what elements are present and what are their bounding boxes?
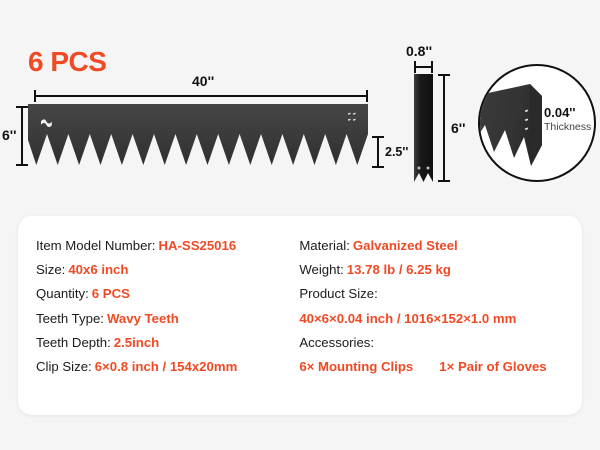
teeth-depth-label: 2.5'' bbox=[385, 146, 408, 159]
spec-key-size: Size: bbox=[36, 262, 65, 277]
spec-row-teeth-depth: Teeth Depth:2.5inch bbox=[36, 335, 299, 350]
spec-row-size: Size:40x6 inch bbox=[36, 262, 299, 277]
thickness-callout: 0.04'' Thickness bbox=[544, 106, 591, 134]
spec-key-weight: Weight: bbox=[299, 262, 343, 277]
spec-row-product-size-value: 40×6×0.04 inch / 1016×152×1.0 mm bbox=[299, 311, 582, 326]
clip-height-label: 6'' bbox=[451, 121, 465, 135]
spec-row-clip-size: Clip Size:6×0.8 inch / 154x20mm bbox=[36, 359, 299, 374]
spec-value-teeth-type: Wavy Teeth bbox=[107, 311, 179, 326]
accessory-item-clips: 6× Mounting Clips bbox=[299, 359, 413, 374]
spec-value-clip-size: 6×0.8 inch / 154x20mm bbox=[95, 359, 238, 374]
spec-key-clip-size: Clip Size: bbox=[36, 359, 92, 374]
spec-value-material: Galvanized Steel bbox=[353, 238, 458, 253]
spec-key-accessories: Accessories: bbox=[299, 335, 374, 350]
thickness-detail-circle: 0.04'' Thickness bbox=[478, 64, 596, 182]
spec-column-right: Material:Galvanized Steel Weight:13.78 l… bbox=[299, 238, 582, 415]
spec-row-model: Item Model Number:HA-SS25016 bbox=[36, 238, 299, 253]
spec-row-product-size-key: Product Size: bbox=[299, 286, 582, 301]
spec-key-teeth-depth: Teeth Depth: bbox=[36, 335, 111, 350]
spec-key-model: Item Model Number: bbox=[36, 238, 155, 253]
spec-row-teeth-type: Teeth Type:Wavy Teeth bbox=[36, 311, 299, 326]
main-length-label: 40'' bbox=[192, 74, 214, 88]
spec-value-weight: 13.78 lb / 6.25 kg bbox=[347, 262, 451, 277]
spec-value-product-size: 40×6×0.04 inch / 1016×152×1.0 mm bbox=[299, 311, 516, 326]
thickness-caption: Thickness bbox=[544, 121, 591, 134]
spec-key-teeth-type: Teeth Type: bbox=[36, 311, 104, 326]
spec-value-model: HA-SS25016 bbox=[158, 238, 236, 253]
magnified-edge-shape bbox=[478, 80, 552, 170]
brand-logo-icon bbox=[40, 116, 53, 127]
mounting-clip-side-view bbox=[414, 74, 433, 182]
spec-value-teeth-depth: 2.5inch bbox=[114, 335, 159, 350]
clip-width-label: 0.8'' bbox=[406, 44, 432, 58]
accessory-item-gloves: 1× Pair of Gloves bbox=[439, 359, 546, 374]
clip-width-dimension-line bbox=[414, 66, 433, 68]
spec-key-product-size: Product Size: bbox=[299, 286, 377, 301]
spec-row-accessories-key: Accessories: bbox=[299, 335, 582, 350]
spec-value-size: 40x6 inch bbox=[68, 262, 128, 277]
screw-holes-icon bbox=[347, 112, 359, 128]
spec-row-quantity: Quantity:6 PCS bbox=[36, 286, 299, 301]
spec-column-left: Item Model Number:HA-SS25016 Size:40x6 i… bbox=[18, 238, 299, 415]
spec-value-quantity: 6 PCS bbox=[92, 286, 130, 301]
product-main-strip bbox=[28, 104, 368, 168]
mounting-clip-shape bbox=[414, 74, 433, 182]
screw-holes-glyph bbox=[347, 112, 359, 128]
spec-key-material: Material: bbox=[299, 238, 350, 253]
main-height-dimension-line bbox=[21, 106, 23, 166]
spec-row-weight: Weight:13.78 lb / 6.25 kg bbox=[299, 262, 582, 277]
spec-key-quantity: Quantity: bbox=[36, 286, 89, 301]
main-height-label: 6'' bbox=[2, 128, 16, 142]
headline-quantity: 6 PCS bbox=[28, 48, 106, 76]
spec-row-material: Material:Galvanized Steel bbox=[299, 238, 582, 253]
thickness-value: 0.04'' bbox=[544, 106, 591, 120]
teeth-depth-dimension-line bbox=[377, 136, 379, 168]
specification-card: Item Model Number:HA-SS25016 Size:40x6 i… bbox=[18, 216, 582, 415]
spec-row-accessories-items: 6× Mounting Clips 1× Pair of Gloves bbox=[299, 359, 582, 374]
brand-logo-glyph bbox=[40, 118, 53, 129]
saw-tooth-strip-shape bbox=[28, 104, 368, 168]
main-length-dimension-line bbox=[34, 95, 368, 97]
clip-height-dimension-line bbox=[443, 74, 445, 182]
